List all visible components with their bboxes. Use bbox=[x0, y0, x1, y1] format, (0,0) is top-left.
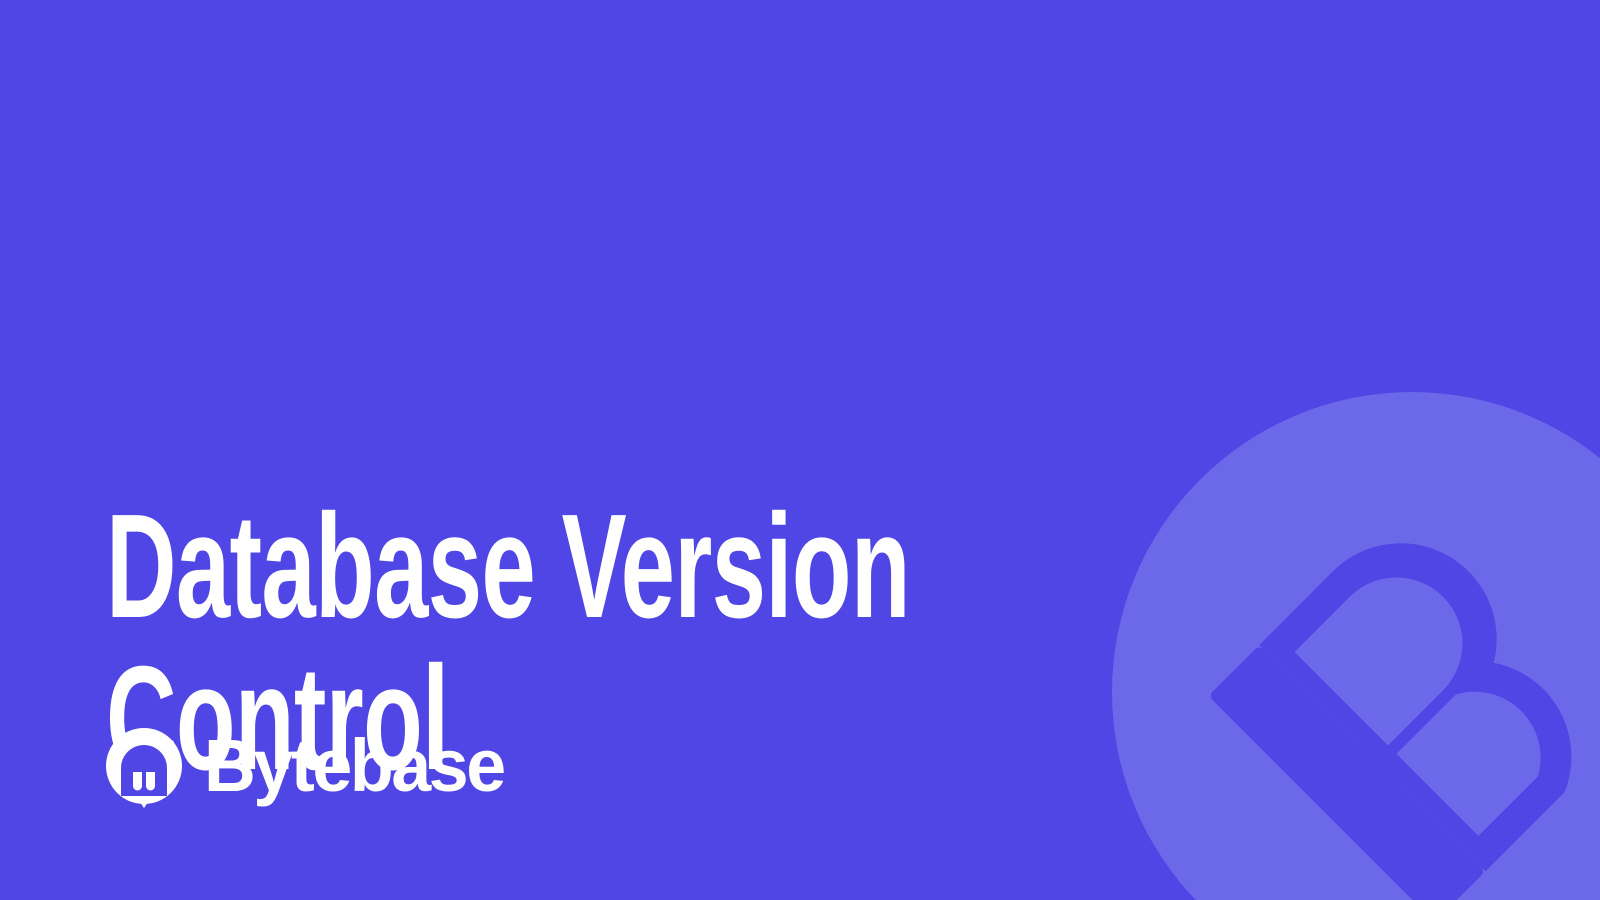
brand-logo-lockup[interactable]: Bytebase bbox=[104, 728, 513, 808]
brand-wordmark: Bytebase bbox=[204, 729, 504, 807]
og-card: Database Version Control Best Practice B… bbox=[0, 0, 1600, 900]
bytebase-b-watermark-icon bbox=[1082, 380, 1600, 900]
bytebase-chat-bubble-logo-icon bbox=[104, 728, 184, 808]
